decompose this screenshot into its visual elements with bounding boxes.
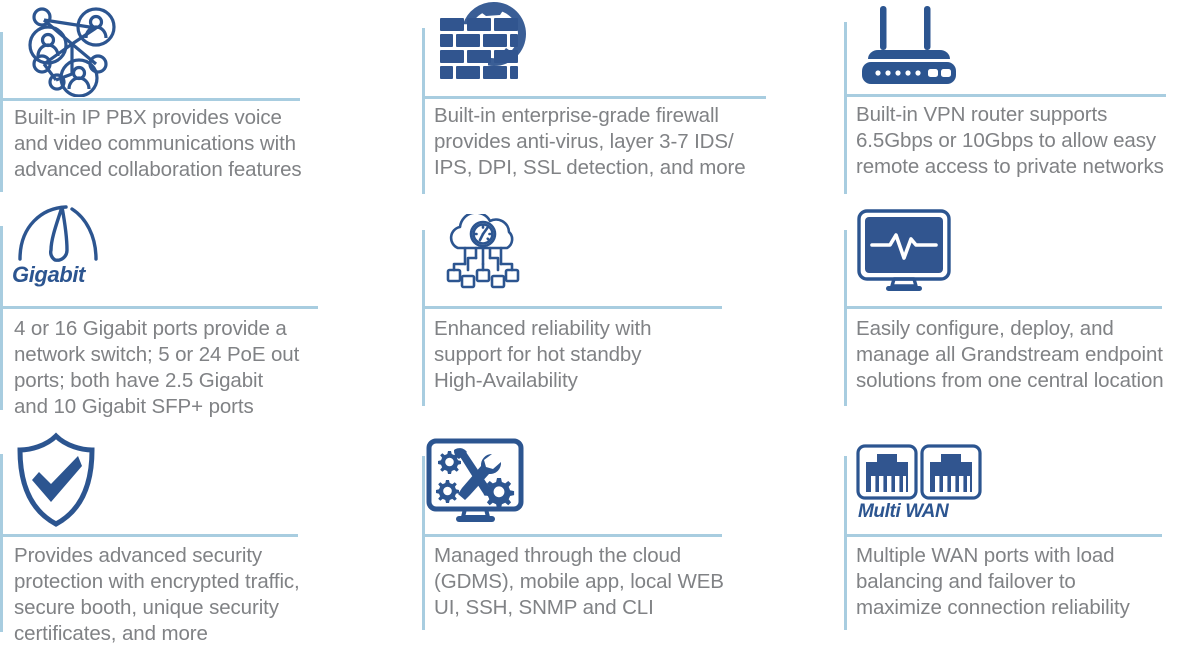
horizontal-divider-rule	[844, 94, 1166, 97]
feature-card-high-availability: Enhanced reliability with support for ho…	[412, 200, 832, 430]
monitor-pulse-icon	[856, 208, 954, 292]
network-users-icon	[12, 2, 117, 97]
feature-card-multi-wan: Multi WAN Multiple WAN ports with load b…	[832, 430, 1200, 646]
feature-card-management-tools: Managed through the cloud (GDMS), mobile…	[412, 430, 832, 646]
feature-card-firewall: Built-in enterprise-grade firewall provi…	[412, 0, 832, 200]
vertical-accent-rule	[422, 456, 425, 630]
horizontal-divider-rule	[844, 534, 1162, 537]
feature-description: Easily configure, deploy, and manage all…	[856, 316, 1164, 394]
icon-container	[426, 438, 526, 522]
icon-container	[8, 432, 104, 528]
vertical-accent-rule	[844, 22, 847, 194]
feature-card-gigabit-ports: Gigabit 4 or 16 Gigabit ports provide a …	[0, 200, 412, 430]
feature-description: 4 or 16 Gigabit ports provide a network …	[14, 316, 299, 420]
horizontal-divider-rule	[0, 534, 298, 537]
feature-description: Enhanced reliability with support for ho…	[434, 316, 651, 394]
feature-card-vpn-router: Built-in VPN router supports 6.5Gbps or …	[832, 0, 1200, 200]
vertical-accent-rule	[844, 456, 847, 630]
feature-card-security: Provides advanced security protection wi…	[0, 430, 412, 646]
feature-description: Built-in IP PBX provides voice and video…	[14, 105, 302, 183]
feature-grid: Built-in IP PBX provides voice and video…	[0, 0, 1200, 646]
vertical-accent-rule	[422, 28, 425, 194]
icon-container	[854, 2, 972, 87]
firewall-brick-wall-globe-icon	[434, 0, 539, 92]
horizontal-divider-rule	[422, 96, 766, 99]
vertical-accent-rule	[844, 230, 847, 406]
gigabit-logo-icon	[10, 202, 114, 264]
gigabit-brand-label: Gigabit	[12, 262, 85, 288]
horizontal-divider-rule	[844, 306, 1162, 309]
feature-card-ip-pbx: Built-in IP PBX provides voice and video…	[0, 0, 412, 200]
icon-container: Multi WAN	[856, 444, 982, 523]
icon-container	[442, 214, 524, 290]
horizontal-divider-rule	[0, 306, 318, 309]
monitor-tools-gears-icon	[426, 438, 526, 522]
feature-description: Multiple WAN ports with load balancing a…	[856, 543, 1130, 621]
feature-description: Built-in VPN router supports 6.5Gbps or …	[856, 102, 1164, 180]
multi-wan-brand-label: Multi WAN	[858, 501, 948, 523]
feature-card-central-management: Easily configure, deploy, and manage all…	[832, 200, 1200, 430]
vertical-accent-rule	[422, 230, 425, 406]
wireless-router-icon	[854, 2, 972, 87]
vertical-accent-rule	[0, 454, 3, 632]
feature-description: Built-in enterprise-grade firewall provi…	[434, 103, 746, 181]
feature-description: Provides advanced security protection wi…	[14, 543, 300, 647]
horizontal-divider-rule	[0, 98, 300, 101]
horizontal-divider-rule	[422, 306, 722, 309]
cloud-gauge-nodes-icon	[442, 214, 524, 290]
vertical-accent-rule	[0, 226, 3, 410]
horizontal-divider-rule	[422, 534, 722, 537]
icon-container: Gigabit	[10, 202, 114, 288]
feature-description: Managed through the cloud (GDMS), mobile…	[434, 543, 724, 621]
icon-container	[12, 2, 117, 97]
icon-container	[434, 0, 539, 92]
icon-container	[856, 208, 954, 292]
shield-check-icon	[8, 432, 104, 528]
vertical-accent-rule	[0, 32, 3, 192]
dual-rj45-port-icon	[856, 444, 982, 500]
